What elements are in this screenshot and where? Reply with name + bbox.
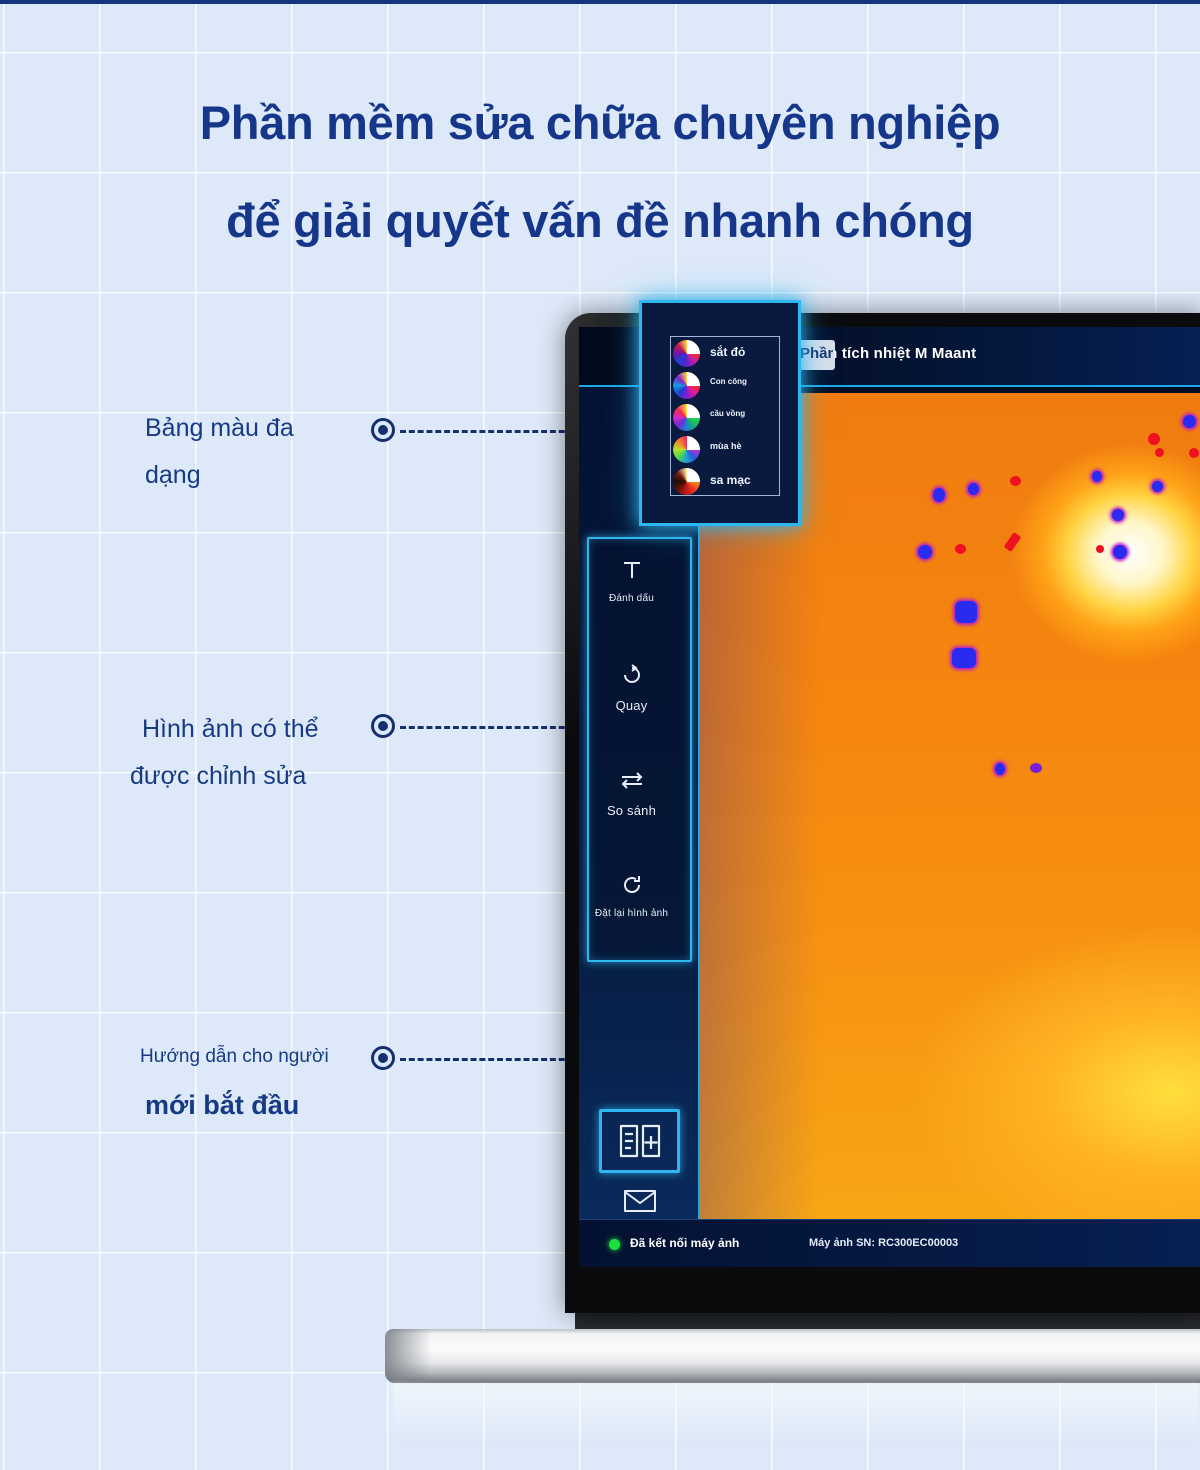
annotation-1-line-1: Bảng màu đa	[145, 414, 294, 443]
tool-compare-label: So sánh	[579, 803, 684, 818]
thermal-component	[1112, 509, 1124, 521]
tool-annotate-label: Đánh dấu	[579, 593, 684, 604]
tool-reset-label: Đặt lại hình ảnh	[579, 908, 684, 919]
color-wheel-icon	[673, 372, 700, 399]
palette-item-desert[interactable]: sa mạc	[673, 468, 779, 500]
palette-item-rainbow[interactable]: cầu vồng	[673, 404, 779, 436]
thermal-component	[995, 763, 1005, 775]
annotation-3-line-2: mới bắt đầu	[145, 1090, 299, 1121]
thermal-component	[1113, 545, 1127, 559]
rotate-icon	[579, 662, 684, 696]
thermal-component	[1096, 545, 1104, 553]
annotation-1-line-2: dạng	[145, 461, 201, 490]
connection-status-led	[609, 1239, 620, 1250]
palette-item-label: Con công	[710, 377, 747, 386]
app-statusbar: Đã kết nối máy ảnh Máy ảnh SN: RC300EC00…	[579, 1219, 1200, 1267]
laptop-base	[385, 1329, 1200, 1383]
top-accent-bar	[0, 0, 1200, 4]
page-title: Phần mềm sửa chữa chuyên nghiệp để giải …	[0, 74, 1200, 270]
headline-line-2: để giải quyết vấn đề nhanh chóng	[0, 172, 1200, 270]
connection-status-text: Đã kết nối máy ảnh	[630, 1236, 739, 1250]
reset-icon	[579, 872, 684, 906]
app-title-highlight-text: Phần	[800, 345, 833, 362]
color-palette-list: sắt đỏ Con công cầu vồng mùa hè	[670, 336, 780, 496]
palette-item-label: mùa hè	[710, 441, 742, 451]
thermal-component	[1148, 433, 1160, 445]
thermal-component	[1010, 476, 1021, 486]
thermal-component	[955, 544, 966, 554]
thermal-component	[1183, 415, 1196, 428]
tool-compare[interactable]: So sánh	[579, 767, 684, 818]
nav-item-guide[interactable]	[579, 1119, 700, 1166]
thermal-component	[955, 601, 977, 623]
thermal-component	[1030, 763, 1042, 773]
thermal-component	[952, 648, 976, 668]
thermal-component	[933, 488, 945, 502]
thermal-component	[1152, 481, 1163, 492]
thermal-component	[918, 545, 932, 559]
palette-item-label: sắt đỏ	[710, 345, 745, 359]
laptop-reflection	[392, 1383, 1200, 1445]
text-marker-icon	[579, 557, 684, 591]
thermal-component	[1189, 448, 1199, 458]
palette-item-iron-red[interactable]: sắt đỏ	[673, 340, 779, 372]
palette-item-peacock[interactable]: Con công	[673, 372, 779, 404]
mail-icon	[623, 1200, 657, 1217]
thermal-component	[1092, 471, 1102, 482]
annotation-2-dot	[371, 714, 395, 738]
annotation-3-dot	[371, 1046, 395, 1070]
thermal-component	[968, 483, 979, 495]
palette-item-label: sa mạc	[710, 473, 751, 487]
palette-item-label: cầu vồng	[710, 409, 745, 418]
guide-book-icon	[617, 1148, 663, 1165]
annotation-3-line-1: Hướng dẫn cho người	[140, 1046, 329, 1068]
tool-reset-image[interactable]: Đặt lại hình ảnh	[579, 872, 684, 919]
tool-annotate[interactable]: Đánh dấu	[579, 557, 684, 604]
color-wheel-icon	[673, 340, 700, 367]
headline-line-1: Phần mềm sửa chữa chuyên nghiệp	[0, 74, 1200, 172]
color-wheel-icon	[673, 404, 700, 431]
thermal-component	[1155, 448, 1164, 457]
annotation-1-dot	[371, 418, 395, 442]
color-wheel-icon	[673, 468, 700, 495]
compare-icon	[579, 767, 684, 801]
color-wheel-icon	[673, 436, 700, 463]
tool-rotate-label: Quay	[579, 698, 684, 713]
palette-item-summer[interactable]: mùa hè	[673, 436, 779, 468]
tool-rotate[interactable]: Quay	[579, 662, 684, 713]
annotation-2-line-1: Hình ảnh có thể	[142, 715, 319, 744]
camera-serial-text: Máy ảnh SN: RC300EC00003	[809, 1237, 958, 1249]
color-palette-popup[interactable]: sắt đỏ Con công cầu vồng mùa hè	[639, 300, 801, 526]
annotation-2-line-2: được chỉnh sửa	[130, 762, 306, 791]
